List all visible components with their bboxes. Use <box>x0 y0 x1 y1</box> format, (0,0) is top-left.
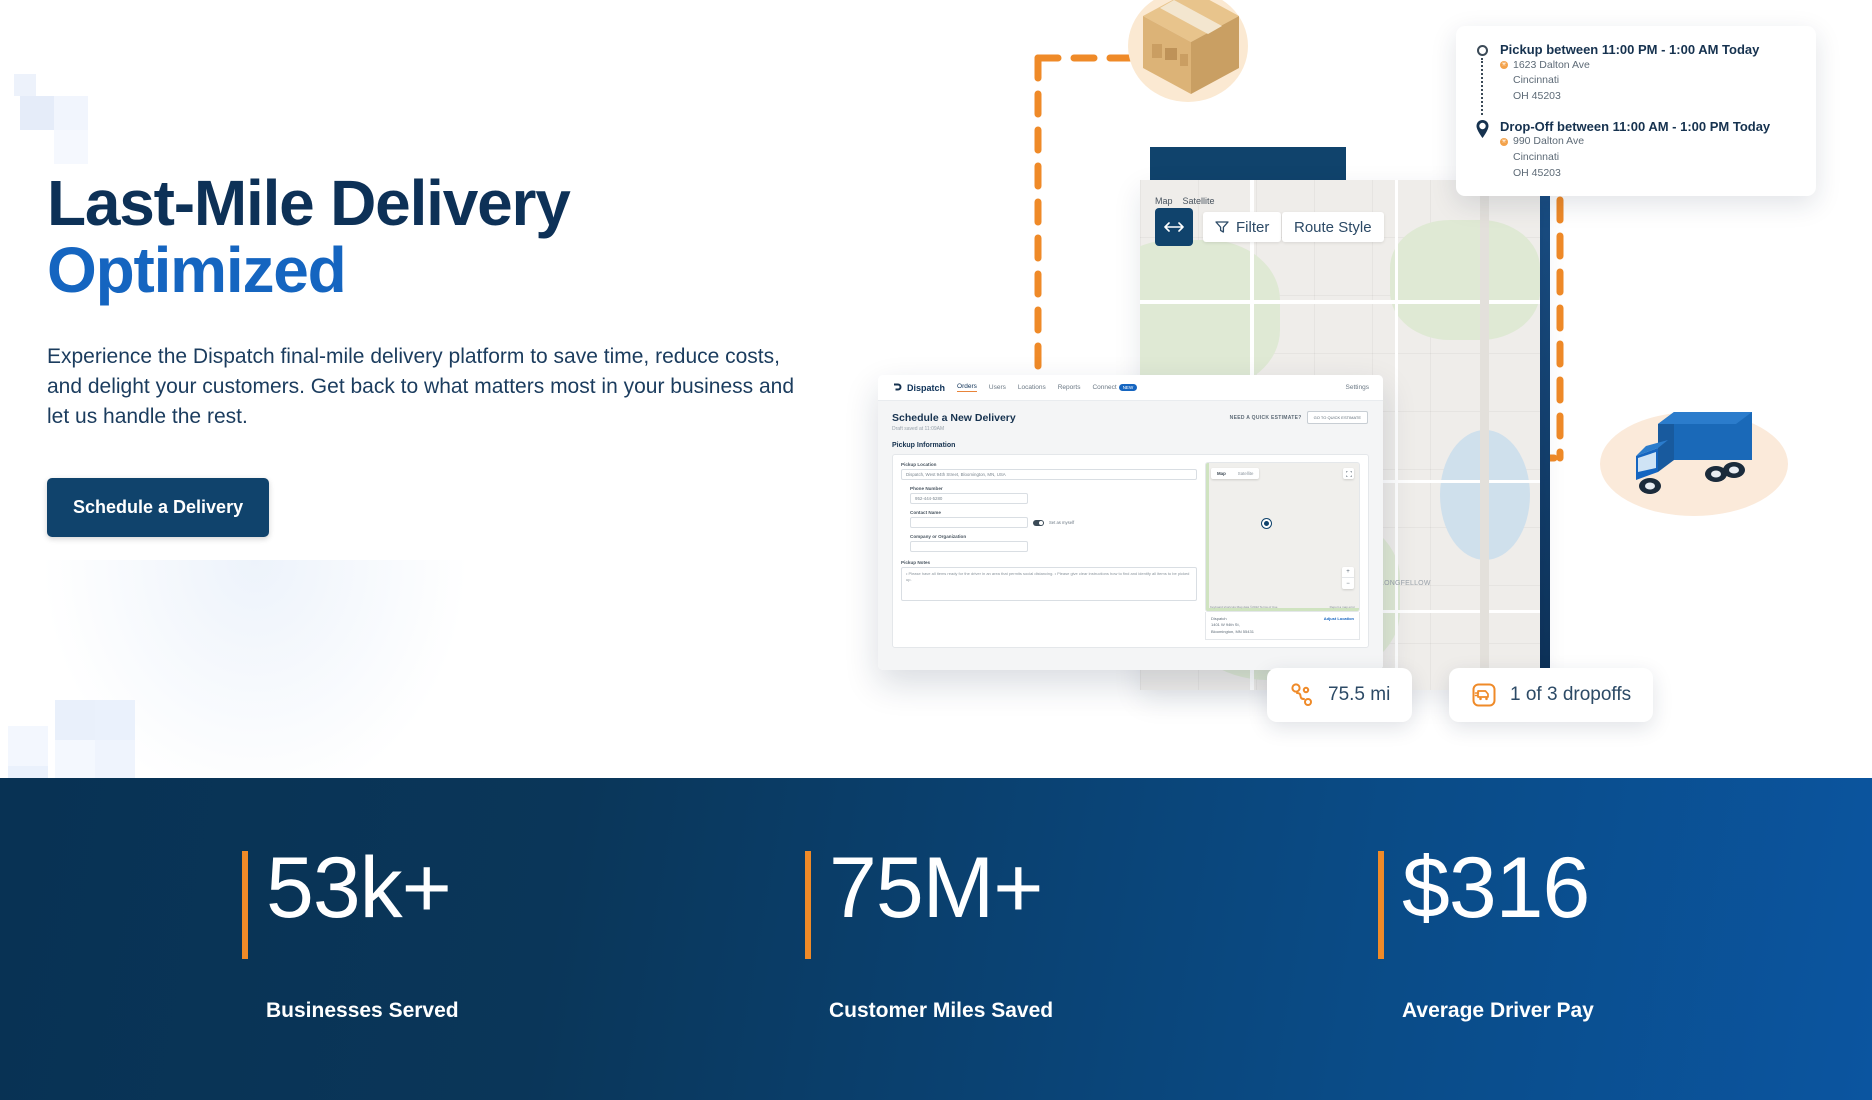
minimap-view-toggle[interactable]: Map Satellite <box>1211 468 1259 479</box>
stat-value: 75M+ <box>829 845 1043 931</box>
minimap[interactable]: Map Satellite + − <box>1205 462 1360 612</box>
address-line-2: Bloomington, MN 55431 <box>1211 629 1254 635</box>
dropoff-address: 990 Dalton Ave <box>1513 134 1584 150</box>
fullscreen-icon <box>1346 471 1352 477</box>
minimap-attribution: Keyboard shortcuts Map data ©2022 Terms … <box>1210 605 1277 609</box>
stat-accent-bar <box>805 851 811 959</box>
marker-dot-icon: ✳ <box>1500 138 1508 146</box>
decor-square <box>54 130 88 164</box>
nav-connect[interactable]: ConnectNEW <box>1092 384 1137 391</box>
nav-settings[interactable]: Settings <box>1346 384 1370 391</box>
dropoff-details: Drop-Off between 11:00 AM - 1:00 PM Toda… <box>1500 119 1770 182</box>
stat-value-group: $316 <box>1378 845 1594 959</box>
phone-number-label: Phone Number <box>910 486 1197 491</box>
minimap-canvas <box>1206 463 1359 611</box>
nav-connect-label: Connect <box>1092 384 1116 391</box>
dropoff-state-zip: OH 45203 <box>1500 166 1770 182</box>
minimap-satellite-tab[interactable]: Satellite <box>1232 468 1260 479</box>
map-pin-icon <box>1475 119 1490 139</box>
delivery-van-icon <box>1471 682 1497 708</box>
minimap-map-tab[interactable]: Map <box>1211 468 1232 479</box>
connect-badge: NEW <box>1119 384 1138 391</box>
decor-square <box>8 726 48 766</box>
stat-value: 53k+ <box>266 845 451 931</box>
quick-estimate-button[interactable]: GO TO QUICK ESTIMATE <box>1307 411 1368 424</box>
pickup-address: 1623 Dalton Ave <box>1513 58 1590 74</box>
set-as-myself-label: Set as myself <box>1049 520 1074 525</box>
dropoffs-label: 1 of 3 dropoffs <box>1510 684 1631 706</box>
quick-estimate-prompt: NEED A QUICK ESTIMATE? <box>1230 415 1302 421</box>
route-style-button[interactable]: Route Style <box>1282 212 1384 242</box>
pickup-notes-label: Pickup Notes <box>901 560 1197 565</box>
page-title: Last-Mile Delivery Optimized <box>47 170 847 304</box>
minimap-location-pin <box>1262 519 1271 528</box>
phone-number-input[interactable]: 952-444-5280 <box>910 493 1028 504</box>
pickup-state-zip: OH 45203 <box>1500 89 1759 105</box>
dropoff-window-heading: Drop-Off between 11:00 AM - 1:00 PM Toda… <box>1500 119 1770 135</box>
pickup-information-heading: Pickup Information <box>892 442 1369 449</box>
dashboard-body: Schedule a New Delivery Draft saved at 1… <box>878 401 1383 670</box>
filter-label: Filter <box>1236 219 1269 236</box>
stat-customer-miles-saved: 75M+ Customer Miles Saved <box>805 845 1053 1023</box>
pickup-location-input[interactable]: Dispatch, West 94th Street, Bloomington,… <box>901 469 1197 480</box>
adjust-location-link[interactable]: Adjust Location <box>1324 616 1354 635</box>
pickup-address-card: Dispatch 1401 W 94th St, Bloomington, MN… <box>1205 612 1360 640</box>
nav-users[interactable]: Users <box>989 384 1006 391</box>
hero-copy: Last-Mile Delivery Optimized Experience … <box>47 170 847 537</box>
pickup-city: Cincinnati <box>1500 73 1759 89</box>
stat-value-group: 53k+ <box>242 845 459 959</box>
stat-label: Customer Miles Saved <box>829 999 1053 1023</box>
stat-label: Businesses Served <box>266 999 459 1023</box>
dispatch-mark-icon <box>892 382 903 393</box>
set-as-myself-toggle[interactable] <box>1033 520 1044 526</box>
decor-square <box>55 740 95 778</box>
funnel-icon <box>1215 220 1229 234</box>
decor-square <box>95 700 135 740</box>
schedule-delivery-button[interactable]: Schedule a Delivery <box>47 478 269 537</box>
satellite-tab-label: Satellite <box>1183 196 1215 206</box>
decor-square <box>8 766 48 778</box>
hero-section: Last-Mile Delivery Optimized Experience … <box>0 0 1872 778</box>
minimap-zoom-in[interactable]: + <box>1342 567 1354 578</box>
dispatch-logo[interactable]: Dispatch <box>892 382 945 393</box>
minimap-fullscreen-button[interactable] <box>1343 468 1354 479</box>
pickup-notes-textarea[interactable]: • Please have all items ready for the dr… <box>901 567 1197 601</box>
filter-button[interactable]: Filter <box>1203 212 1281 242</box>
stat-accent-bar <box>242 851 248 959</box>
dropoff-address-row: ✳ 990 Dalton Ave <box>1500 134 1770 150</box>
pickup-marker-column <box>1474 42 1490 117</box>
pickup-window-heading: Pickup between 11:00 PM - 1:00 AM Today <box>1500 42 1759 58</box>
nav-orders[interactable]: Orders <box>957 383 977 392</box>
route-icon <box>1289 682 1315 708</box>
nav-locations[interactable]: Locations <box>1018 384 1046 391</box>
dropoff-marker-column <box>1474 119 1490 182</box>
company-label: Company or Organization <box>910 534 1197 539</box>
decor-square <box>95 740 135 778</box>
pickup-address-text: Dispatch 1401 W 94th St, Bloomington, MN… <box>1211 616 1254 635</box>
delivery-truck-icon <box>1612 394 1772 524</box>
title-line-2: Optimized <box>47 237 847 304</box>
brand-name: Dispatch <box>907 383 945 393</box>
nav-reports[interactable]: Reports <box>1058 384 1081 391</box>
pickup-address-row: ✳ 1623 Dalton Ave <box>1500 58 1759 74</box>
map-tab-label: Map <box>1155 196 1173 206</box>
stat-average-driver-pay: $316 Average Driver Pay <box>1378 845 1594 1023</box>
expand-map-button[interactable] <box>1155 208 1193 246</box>
decor-square <box>20 96 54 130</box>
dropoff-stop: Drop-Off between 11:00 AM - 1:00 PM Toda… <box>1474 119 1798 182</box>
dropoff-city: Cincinnati <box>1500 150 1770 166</box>
decor-square <box>54 96 88 130</box>
minimap-column: Map Satellite + − <box>1205 462 1360 640</box>
stat-businesses-served: 53k+ Businesses Served <box>242 845 459 1023</box>
expand-arrows-icon <box>1164 221 1184 233</box>
map-satellite-toggle[interactable]: Map Satellite <box>1155 196 1215 206</box>
distance-label: 75.5 mi <box>1328 684 1390 706</box>
dashboard-navbar: Dispatch Orders Users Locations Reports … <box>878 375 1383 401</box>
marker-dot-icon: ✳ <box>1500 61 1508 69</box>
stat-accent-bar <box>1378 851 1384 959</box>
route-style-label: Route Style <box>1294 219 1372 236</box>
dropoffs-pill: 1 of 3 dropoffs <box>1449 668 1653 722</box>
stat-value-group: 75M+ <box>805 845 1053 959</box>
company-input[interactable] <box>910 541 1028 552</box>
route-connector-line <box>1481 58 1483 115</box>
hero-subtitle: Experience the Dispatch final-mile deliv… <box>47 342 807 431</box>
stat-label: Average Driver Pay <box>1402 999 1594 1023</box>
package-box-icon <box>1136 0 1246 102</box>
pickup-circle-icon <box>1477 45 1488 56</box>
draft-saved-note: Draft saved at 11:09AM <box>892 426 1369 432</box>
distance-pill: 75.5 mi <box>1267 668 1412 722</box>
quick-estimate-group: NEED A QUICK ESTIMATE? GO TO QUICK ESTIM… <box>1230 411 1368 424</box>
route-detail-card: Pickup between 11:00 PM - 1:00 AM Today … <box>1456 26 1816 196</box>
pickup-form-panel: Pickup Location Dispatch, West 94th Stre… <box>892 454 1369 648</box>
contact-name-label: Contact Name <box>910 510 1197 515</box>
minimap-zoom-out[interactable]: − <box>1342 578 1354 589</box>
decor-square <box>55 700 95 740</box>
dashboard-screenshot[interactable]: Dispatch Orders Users Locations Reports … <box>878 375 1383 670</box>
stat-value: $316 <box>1402 845 1589 931</box>
pickup-stop: Pickup between 11:00 PM - 1:00 AM Today … <box>1474 42 1798 117</box>
minimap-zoom-controls[interactable]: + − <box>1342 567 1354 589</box>
title-line-1: Last-Mile Delivery <box>47 167 570 239</box>
pickup-location-label: Pickup Location <box>901 462 1197 467</box>
contact-name-input[interactable] <box>910 517 1028 528</box>
pickup-details: Pickup between 11:00 PM - 1:00 AM Today … <box>1500 42 1759 117</box>
decor-square <box>14 74 36 96</box>
minimap-report-link[interactable]: Report a map error <box>1330 605 1355 609</box>
